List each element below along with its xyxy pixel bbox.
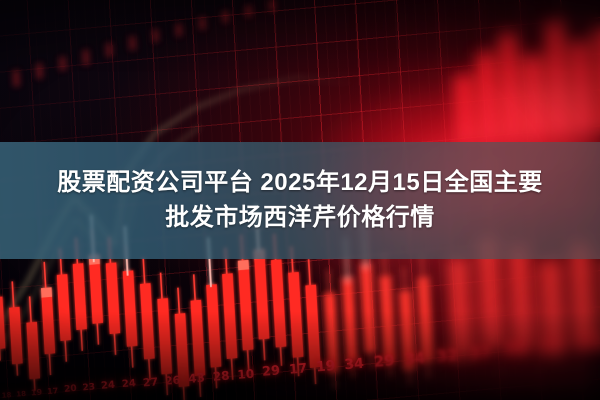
title-line-1: 股票配资公司平台 2025年12月15日全国主要 bbox=[57, 166, 542, 200]
title-band: 股票配资公司平台 2025年12月15日全国主要 批发市场西洋芹价格行情 bbox=[0, 142, 600, 259]
banner-image: 18 18 19 17 20 23 24 24 27 26 43 28 10 2… bbox=[0, 0, 600, 400]
title-line-2: 批发市场西洋芹价格行情 bbox=[165, 201, 435, 235]
